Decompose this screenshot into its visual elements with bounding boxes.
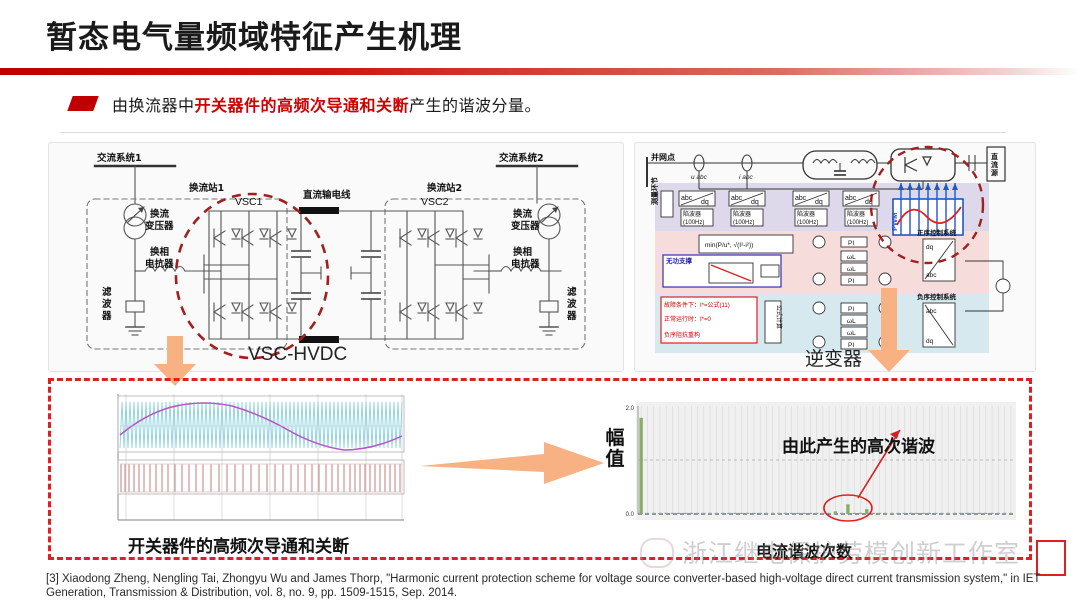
svg-text:换相: 换相: [150, 246, 169, 258]
arrow-down-right-icon: [866, 288, 912, 374]
pwm-chart-label: 开关器件的高频次导通和关断: [128, 532, 349, 557]
svg-text:min(P/u*, √(I²-i²)): min(P/u*, √(I²-i²)): [705, 241, 753, 249]
svg-text:ωL: ωL: [847, 254, 856, 261]
label-vsc1: VSC1: [235, 196, 263, 208]
svg-text:正常运行时：I*=0: 正常运行时：I*=0: [664, 315, 712, 323]
inverter-control-schematic: PWM abc dq 陷波器 (100Hz) abc dq: [635, 143, 1035, 371]
subtitle-suffix: 产生的谐波分量。: [409, 98, 541, 115]
svg-text:换流: 换流: [150, 208, 170, 220]
label-ac-system-1: 交流系统1: [97, 152, 142, 164]
svg-text:abc: abc: [681, 195, 693, 202]
page-title: 暂态电气量频域特征产生机理: [46, 12, 462, 57]
svg-text:换相: 换相: [513, 246, 532, 258]
svg-text:陷波器: 陷波器: [683, 210, 701, 218]
right-panel-caption: 逆变器: [805, 344, 862, 371]
vsc-hvdc-schematic: 交流系统1 交流系统2 换流站1 换流站2 直流输电线 换流 变压器 换相 电抗…: [49, 143, 623, 371]
svg-text:陷波器: 陷波器: [797, 210, 815, 218]
svg-text:流: 流: [991, 160, 998, 169]
svg-text:PWM: PWM: [890, 213, 899, 231]
svg-text:ωL: ωL: [847, 330, 856, 337]
svg-text:源: 源: [991, 168, 998, 177]
label-ac-system-2: 交流系统2: [499, 152, 544, 164]
svg-text:陷波器: 陷波器: [733, 210, 751, 218]
svg-text:(100Hz): (100Hz): [847, 220, 868, 226]
corner-marker: [1036, 540, 1066, 576]
subtitle-prefix: 由换流器中: [112, 98, 195, 115]
svg-text:公式计算: 公式计算: [775, 305, 783, 329]
svg-text:PI: PI: [848, 306, 854, 313]
svg-text:测量环节: 测量环节: [650, 177, 659, 205]
svg-text:器: 器: [101, 311, 112, 322]
svg-text:dq: dq: [926, 338, 934, 345]
vsc1-highlight-circle: [176, 194, 328, 358]
svg-text:ωL: ωL: [847, 266, 856, 273]
subtitle-highlight: 开关器件的高频次导通和关断: [195, 98, 410, 115]
svg-text:abc: abc: [731, 195, 743, 202]
svg-text:变压器: 变压器: [511, 220, 540, 232]
subtitle-text: 由换流器中开关器件的高频次导通和关断产生的谐波分量。: [112, 92, 541, 116]
pwm-waveform-chart: [108, 388, 408, 528]
svg-text:变压器: 变压器: [145, 220, 174, 232]
label-station-1: 换流站1: [189, 182, 224, 194]
svg-text:dq: dq: [926, 244, 934, 251]
svg-text:故障条件下：I*=公式(11): 故障条件下：I*=公式(11): [664, 301, 730, 309]
svg-text:换流: 换流: [513, 208, 533, 220]
svg-text:负序控制系统: 负序控制系统: [917, 292, 957, 301]
svg-text:直: 直: [991, 152, 998, 161]
svg-text:无功支撑: 无功支撑: [665, 256, 693, 265]
slide-root: 暂态电气量频域特征产生机理 由换流器中开关器件的高频次导通和关断产生的谐波分量。: [0, 0, 1080, 604]
title-underline-rule: [0, 68, 1080, 75]
svg-text:dq: dq: [751, 199, 759, 206]
spectrum-xlabel: 电流谐波次数: [756, 538, 852, 562]
svg-text:u abc: u abc: [691, 174, 708, 181]
svg-text:i abc: i abc: [739, 174, 753, 181]
svg-text:电抗器: 电抗器: [511, 258, 540, 270]
svg-text:abc: abc: [795, 195, 807, 202]
svg-text:陷波器: 陷波器: [847, 210, 865, 218]
inverter-control-diagram-panel: PWM abc dq 陷波器 (100Hz) abc dq: [634, 142, 1036, 372]
svg-text:dq: dq: [701, 199, 709, 206]
svg-text:(100Hz): (100Hz): [797, 220, 818, 226]
svg-text:(100Hz): (100Hz): [683, 220, 704, 226]
spectrum-annotation: 由此产生的高次谐波: [782, 432, 935, 457]
svg-text:器: 器: [566, 311, 577, 322]
svg-text:PI: PI: [848, 240, 854, 247]
svg-text:滤: 滤: [102, 286, 112, 298]
harmonic-spectrum-chart: 2.00.0: [602, 396, 1022, 538]
label-station-2: 换流站2: [427, 182, 462, 194]
svg-text:ωL: ωL: [847, 318, 856, 325]
svg-text:abc: abc: [845, 195, 857, 202]
svg-text:波: 波: [102, 298, 112, 310]
svg-text:电抗器: 电抗器: [145, 258, 174, 270]
label-vsc2: VSC2: [421, 196, 449, 208]
svg-text:波: 波: [567, 298, 577, 310]
label-grid-point: 并网点: [651, 152, 675, 162]
svg-text:abc: abc: [926, 308, 937, 315]
svg-text:负序阻抗重构: 负序阻抗重构: [664, 331, 700, 339]
label-dc-line: 直流输电线: [303, 189, 351, 201]
citation-text: [3] Xiaodong Zheng, Nengling Tai, Zhongy…: [46, 572, 1046, 600]
vsc-hvdc-diagram-panel: 交流系统1 交流系统2 换流站1 换流站2 直流输电线 换流 变压器 换相 电抗…: [48, 142, 624, 372]
svg-text:(100Hz): (100Hz): [733, 220, 754, 226]
svg-text:滤: 滤: [567, 286, 577, 298]
svg-text:0.0: 0.0: [626, 512, 635, 518]
svg-text:PI: PI: [848, 278, 854, 285]
svg-text:abc: abc: [926, 272, 937, 279]
left-panel-caption: VSC-HVDC: [248, 344, 347, 366]
svg-text:2.0: 2.0: [626, 406, 635, 412]
svg-text:正序控制系统: 正序控制系统: [917, 228, 957, 237]
svg-text:dq: dq: [815, 199, 823, 206]
bullet-marker-icon: [67, 96, 98, 111]
